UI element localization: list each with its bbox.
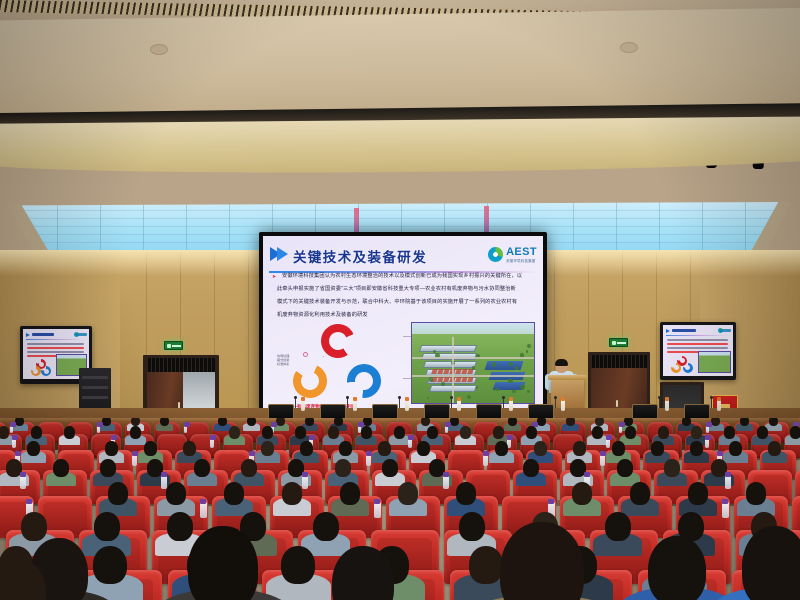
person-head: [595, 418, 604, 426]
person-head: [537, 418, 546, 426]
person-head: [281, 546, 315, 584]
person-head: [690, 441, 703, 456]
lectern-top: [548, 375, 587, 380]
water-bottle: [706, 425, 709, 433]
person-head: [456, 482, 476, 504]
diagram-legend-note: 协同处理 模式创新 标准体系: [277, 354, 289, 366]
person-head: [378, 441, 391, 456]
water-bottle: [20, 475, 26, 489]
mini-logo-text: [720, 329, 731, 332]
mini-chevron-icon: [666, 329, 670, 333]
person-head: [108, 482, 128, 504]
person-head: [335, 459, 351, 477]
table-water-bottle: [353, 400, 357, 411]
table-water-bottle: [405, 400, 409, 411]
photo-tree: [476, 386, 479, 389]
person-head: [382, 459, 398, 477]
mini-chevron-icon: [26, 333, 30, 337]
person-head: [617, 459, 633, 477]
foreground-person-head: [742, 526, 800, 600]
slide-body-line-2: 此牵头申报实施了省国资委"三大"项目即安徽省科技重大专项—农业农村有机废弃物与污…: [277, 287, 516, 292]
person-head: [334, 418, 343, 426]
water-bottle: [366, 454, 371, 466]
right-monitor-screen: [663, 325, 733, 376]
photo-road: [452, 337, 454, 403]
person-head: [94, 512, 120, 541]
table-microphone: [711, 398, 712, 408]
water-bottle: [10, 425, 13, 433]
person-head: [276, 418, 285, 426]
logo-subtext: 安徽环境科技集团: [506, 258, 537, 263]
photo-tree: [508, 379, 513, 384]
table-microphone: [295, 398, 296, 408]
mini-aerial-photo: [698, 351, 731, 373]
mini-body-line: [27, 351, 84, 353]
photo-tree: [527, 390, 530, 393]
audience-area: [0, 418, 800, 600]
person-head: [651, 441, 664, 456]
aerial-park-photo: [411, 322, 535, 404]
table-microphone: [503, 398, 504, 408]
mini-body-line: [667, 343, 728, 345]
skylight-rail: [14, 218, 786, 219]
water-bottle: [619, 425, 622, 433]
person-head: [313, 512, 339, 541]
person-head: [729, 441, 742, 456]
diagram-ring-blue: [346, 363, 383, 400]
ceiling-soffit: [0, 116, 800, 176]
water-bottle: [483, 454, 488, 466]
water-bottle: [600, 454, 605, 466]
person-head: [53, 459, 69, 477]
mini-diagram-ring: [31, 366, 41, 376]
person-head: [394, 426, 405, 438]
person-head: [339, 441, 352, 456]
water-bottle: [705, 438, 709, 448]
water-bottle: [408, 438, 412, 448]
table-microphone: [555, 398, 556, 408]
water-bottle: [132, 454, 137, 466]
person-head: [27, 441, 40, 456]
foreground-person-head: [188, 526, 258, 600]
person-head: [131, 418, 140, 426]
photo-tree: [467, 395, 471, 399]
person-head: [523, 459, 539, 477]
water-bottle: [184, 425, 187, 433]
person-head: [229, 426, 240, 438]
water-bottle: [210, 438, 214, 448]
water-bottle: [200, 502, 207, 518]
person-head: [183, 441, 196, 456]
person-head: [711, 418, 720, 426]
person-head: [688, 482, 708, 504]
ceiling-vent: [150, 44, 168, 55]
person-head: [573, 441, 586, 456]
person-head: [31, 426, 42, 438]
person-head: [790, 426, 800, 438]
table-water-bottle: [561, 400, 565, 411]
person-head: [526, 426, 537, 438]
chevron-right-icon-2: [277, 247, 288, 261]
person-head: [93, 546, 127, 584]
slide-body-line-3: 模式下的关键技术装备开发与示范，联合中科大、中环院基于该项目的实施开展了一系列的…: [277, 300, 517, 305]
table-water-bottle: [301, 400, 305, 411]
person-head: [740, 418, 749, 426]
person-head: [282, 482, 302, 504]
table-water-bottle: [665, 400, 669, 411]
person-head: [612, 441, 625, 456]
slide-title-bar: 关键技术及装备研发 AEST 安徽环境科技集团: [263, 242, 543, 266]
foreground-person-head: [648, 536, 706, 600]
mini-slide-title: [32, 333, 54, 336]
person-head: [757, 426, 768, 438]
person-head: [167, 512, 193, 541]
person-head: [624, 418, 633, 426]
person-head: [295, 426, 306, 438]
person-head: [102, 418, 111, 426]
person-head: [261, 441, 274, 456]
water-bottle: [725, 475, 731, 489]
person-head: [495, 441, 508, 456]
table-water-bottle: [457, 400, 461, 411]
logo-text: AEST: [506, 246, 537, 258]
person-head: [427, 426, 438, 438]
photo-road: [412, 375, 534, 377]
right-door-transom: [591, 355, 647, 368]
water-bottle: [445, 425, 448, 433]
person-head: [100, 459, 116, 477]
person-head: [398, 482, 418, 504]
person-head: [572, 482, 592, 504]
person-head: [493, 426, 504, 438]
left-door-transom: [147, 358, 215, 372]
person-head: [664, 459, 680, 477]
person-head: [218, 418, 227, 426]
person-head: [105, 441, 118, 456]
mini-body-line: [27, 347, 84, 349]
mini-diagram-ring: [41, 366, 51, 376]
person-head: [769, 418, 778, 426]
diagram-ring-red: [314, 317, 361, 364]
person-head: [166, 482, 186, 504]
water-bottle: [97, 425, 100, 433]
person-head: [64, 426, 75, 438]
person-head: [421, 418, 430, 426]
slide-body-line-1: 安徽环境科技集团认为农村生态环境整治的技术以及模式创新已成为我国实现乡村振兴的关…: [282, 274, 522, 279]
person-head: [469, 546, 503, 584]
table-microphone: [347, 398, 348, 408]
water-bottle: [606, 438, 610, 448]
person-head: [160, 418, 169, 426]
table-microphone: [451, 398, 452, 408]
mini-title-divider: [666, 335, 728, 336]
legend-leader-line: [323, 356, 324, 357]
mini-body-line: [27, 343, 84, 345]
aest-logo-mark-icon: [488, 247, 503, 262]
person-head: [459, 512, 485, 541]
person-head: [224, 482, 244, 504]
water-bottle: [161, 475, 167, 489]
person-head: [724, 426, 735, 438]
person-head: [508, 418, 517, 426]
water-bottle: [12, 438, 16, 448]
table-microphone: [659, 398, 660, 408]
water-bottle: [374, 502, 381, 518]
photo-tree: [527, 344, 531, 348]
person-head: [328, 426, 339, 438]
legend-dot-marker: [303, 352, 308, 357]
mini-title-divider: [26, 339, 84, 340]
person-head: [592, 426, 603, 438]
person-head: [247, 418, 256, 426]
person-head: [21, 512, 47, 541]
person-head: [691, 426, 702, 438]
person-head: [361, 426, 372, 438]
person-head: [15, 418, 24, 426]
photo-greenhouse-roof: [419, 345, 477, 352]
person-head: [305, 418, 314, 426]
water-bottle: [302, 475, 308, 489]
table-microphone: [399, 398, 400, 408]
right-door-handle[interactable]: [616, 400, 618, 407]
mini-diagram-ring: [671, 363, 681, 373]
photo-tree: [472, 366, 475, 369]
exit-sign-right-icon: [609, 338, 628, 347]
person-head: [658, 426, 669, 438]
table-water-bottle: [717, 400, 721, 411]
photo-road: [412, 357, 534, 359]
person-head: [460, 426, 471, 438]
person-head: [768, 441, 781, 456]
person-head: [144, 441, 157, 456]
table-water-bottle: [509, 400, 513, 411]
company-logo: AEST 安徽环境科技集团: [488, 246, 537, 263]
person-head: [417, 441, 430, 456]
person-head: [682, 418, 691, 426]
person-head: [241, 459, 257, 477]
person-head: [625, 426, 636, 438]
slide-body-line-4: 机废弃物资源化利用技术及装备的研发: [277, 313, 368, 318]
mini-logo-text: [76, 333, 87, 336]
presentation-screen: 关键技术及装备研发 AEST 安徽环境科技集团 ➤ 安徽环境科技集团认为农村生态…: [263, 236, 543, 413]
speaker-hair: [555, 359, 568, 366]
mini-body-line: [667, 347, 728, 349]
person-head: [605, 512, 631, 541]
skylight-rail: [14, 226, 786, 227]
slide-title: 关键技术及装备研发: [293, 246, 427, 266]
person-head: [0, 426, 9, 438]
person-head: [300, 441, 313, 456]
ceiling-vent: [620, 42, 638, 53]
person-head: [262, 426, 273, 438]
conference-hall-photo: 关键技术及装备研发 AEST 安徽环境科技集团 ➤ 安徽环境科技集团认为农村生态…: [0, 0, 800, 600]
water-bottle: [443, 475, 449, 489]
person-head: [130, 426, 141, 438]
mini-slide-title: [672, 329, 696, 332]
person-head: [534, 441, 547, 456]
skylight-rail: [14, 210, 786, 211]
three-ring-diagram: [285, 324, 391, 400]
mini-diagram-ring: [683, 363, 693, 373]
bullet-marker-icon: ➤: [272, 274, 276, 280]
person-head: [566, 418, 575, 426]
person-head: [363, 418, 372, 426]
person-head: [450, 418, 459, 426]
photo-tree: [512, 390, 516, 394]
person-head: [746, 482, 766, 504]
person-head: [194, 459, 210, 477]
person-head: [630, 482, 650, 504]
person-head: [340, 482, 360, 504]
exit-sign-left-icon: [164, 341, 183, 350]
water-bottle: [722, 502, 729, 518]
ceiling-main-surface: [0, 7, 800, 116]
mini-body-line: [667, 339, 728, 341]
